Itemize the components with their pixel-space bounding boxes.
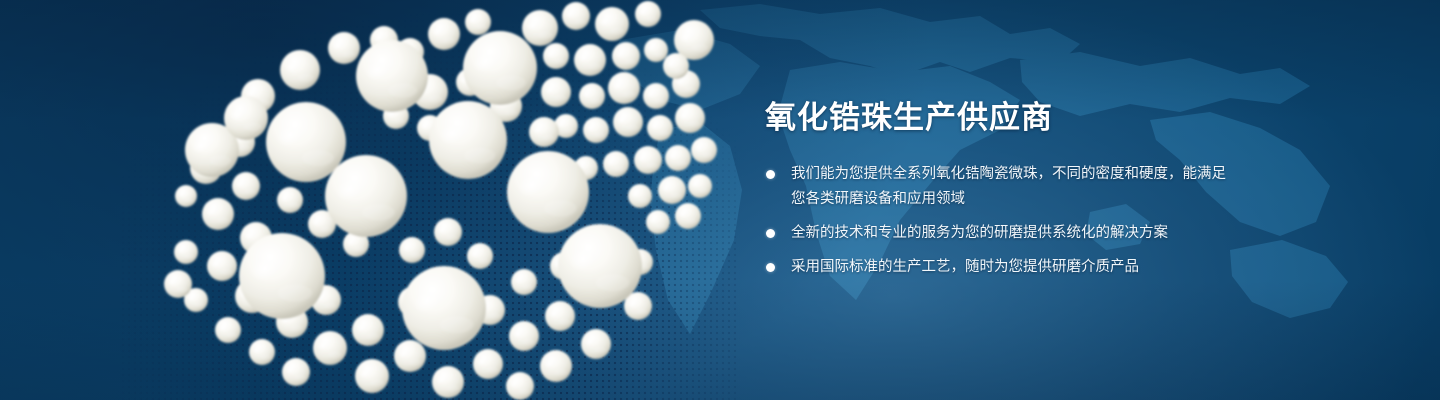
hero-banner: 氧化锆珠生产供应商 我们能为您提供全系列氧化锆陶瓷微珠，不同的密度和硬度，能满足… xyxy=(0,0,1440,400)
bullet-text: 全新的技术和专业的服务为您的研磨提供系统化的解决方案 xyxy=(791,221,1233,246)
feature-bullet-list: 我们能为您提供全系列氧化锆陶瓷微珠，不同的密度和硬度，能满足您各类研磨设备和应用… xyxy=(763,162,1233,280)
bullet-text: 采用国际标准的生产工艺，随时为您提供研磨介质产品 xyxy=(791,255,1233,280)
bullet-dot-icon xyxy=(766,170,775,179)
bullet-dot-icon xyxy=(766,229,775,238)
bullet-dot-icon xyxy=(766,263,775,272)
halftone-dot-pattern xyxy=(120,0,740,400)
banner-copy: 氧化锆珠生产供应商 我们能为您提供全系列氧化锆陶瓷微珠，不同的密度和硬度，能满足… xyxy=(763,98,1233,280)
bullet-text: 我们能为您提供全系列氧化锆陶瓷微珠，不同的密度和硬度，能满足您各类研磨设备和应用… xyxy=(791,162,1233,212)
list-item: 全新的技术和专业的服务为您的研磨提供系统化的解决方案 xyxy=(763,221,1233,246)
list-item: 采用国际标准的生产工艺，随时为您提供研磨介质产品 xyxy=(763,255,1233,280)
page-title: 氧化锆珠生产供应商 xyxy=(765,98,1233,138)
list-item: 我们能为您提供全系列氧化锆陶瓷微珠，不同的密度和硬度，能满足您各类研磨设备和应用… xyxy=(763,162,1233,212)
